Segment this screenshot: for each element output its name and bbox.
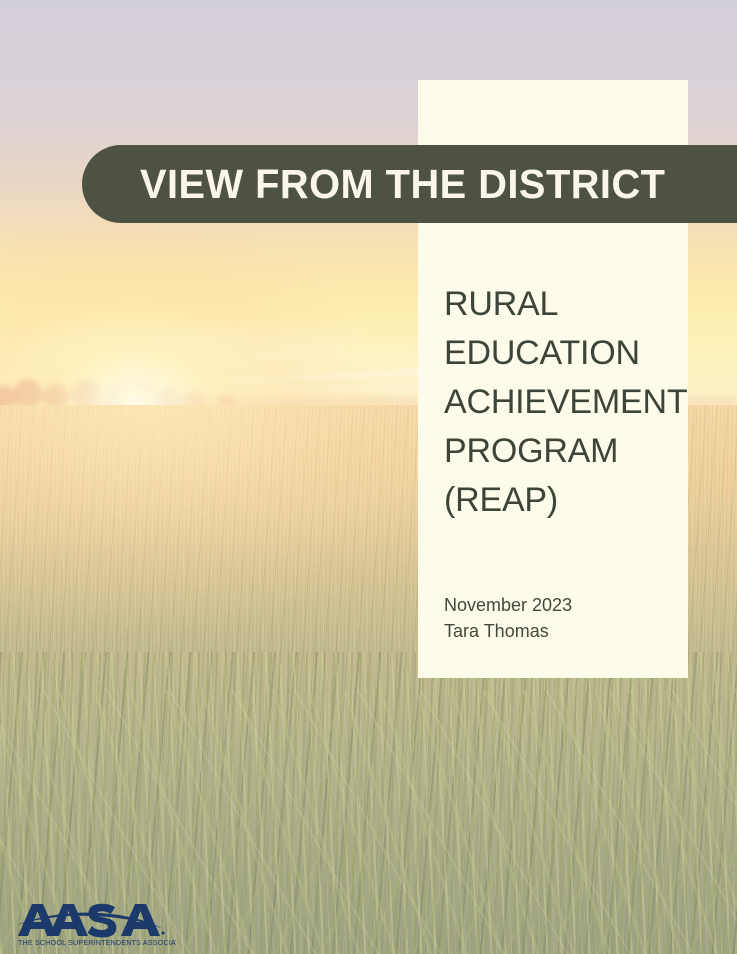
title-line: RURAL <box>444 280 684 329</box>
title-line: ACHIEVEMENT <box>444 378 684 427</box>
document-cover: VIEW FROM THE DISTRICT RURAL EDUCATION A… <box>0 0 737 954</box>
title-line: PROGRAM <box>444 427 684 476</box>
aasa-logo: THE SCHOOL SUPERINTENDENTS ASSOCIATION <box>16 898 176 948</box>
publication-meta: November 2023 Tara Thomas <box>444 592 572 644</box>
page-title: RURAL EDUCATION ACHIEVEMENT PROGRAM (REA… <box>444 280 684 525</box>
series-banner-label: VIEW FROM THE DISTRICT <box>140 161 665 208</box>
author-name: Tara Thomas <box>444 618 572 644</box>
title-line: (REAP) <box>444 476 684 525</box>
aasa-logo-icon: THE SCHOOL SUPERINTENDENTS ASSOCIATION <box>16 898 176 948</box>
title-line: EDUCATION <box>444 329 684 378</box>
aasa-tagline: THE SCHOOL SUPERINTENDENTS ASSOCIATION <box>18 938 176 947</box>
publication-date: November 2023 <box>444 592 572 618</box>
series-banner: VIEW FROM THE DISTRICT <box>82 145 737 223</box>
